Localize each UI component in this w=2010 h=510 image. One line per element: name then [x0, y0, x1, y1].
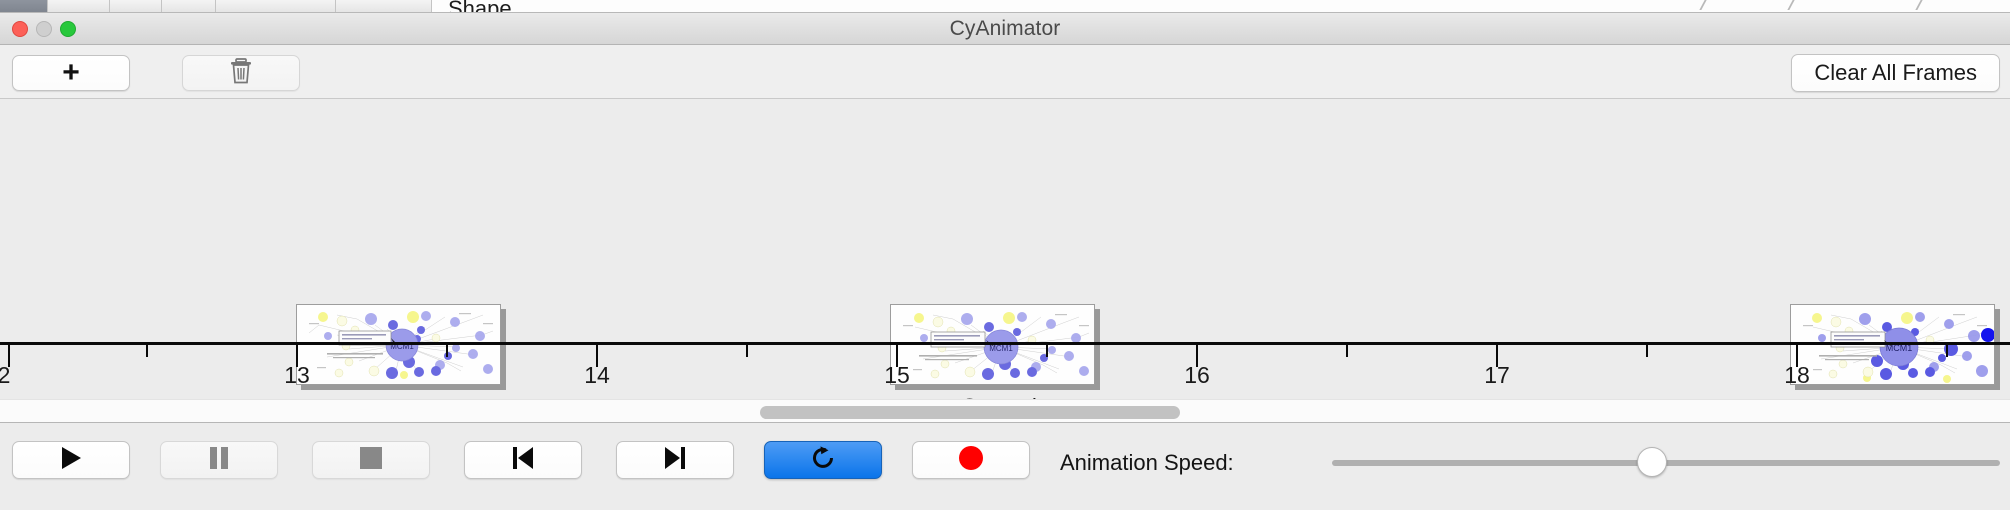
window-title: CyAnimator — [0, 17, 2010, 41]
axis-tick-minor — [146, 345, 148, 357]
axis-tick-minor — [1946, 345, 1948, 357]
stop-button[interactable] — [312, 441, 430, 479]
scrollbar-thumb[interactable] — [760, 406, 1180, 419]
record-button[interactable] — [912, 441, 1030, 479]
axis-tick-minor — [1646, 345, 1648, 357]
playback-bar: Animation Speed: — [0, 423, 2010, 509]
axis-tick-minor — [446, 345, 448, 357]
window-titlebar[interactable]: CyAnimator — [0, 13, 2010, 45]
axis-label: 14 — [584, 362, 610, 389]
plus-icon: + — [62, 58, 80, 88]
loop-icon — [809, 444, 837, 477]
add-frame-button[interactable]: + — [12, 55, 130, 91]
network-graph-icon: MCM1 — [891, 305, 1095, 385]
axis-label: 13 — [284, 362, 310, 389]
skip-to-end-button[interactable] — [616, 441, 734, 479]
slider-thumb[interactable] — [1637, 447, 1667, 477]
frame-thumbnail[interactable]: MCM1 — [890, 304, 1100, 390]
axis-tick-minor — [1046, 345, 1048, 357]
axis-label: 16 — [1184, 362, 1210, 389]
record-icon — [958, 445, 984, 476]
axis-label: 17 — [1484, 362, 1510, 389]
pause-button[interactable] — [160, 441, 278, 479]
toolbar: + Clear All Frames — [0, 45, 2010, 99]
skip-forward-icon — [663, 445, 687, 476]
loop-button[interactable] — [764, 441, 882, 479]
skip-to-start-button[interactable] — [464, 441, 582, 479]
axis-label: 15 — [884, 362, 910, 389]
frame-thumbnail[interactable]: MCM1 — [1790, 304, 2000, 390]
clear-all-frames-button[interactable]: Clear All Frames — [1791, 54, 2000, 92]
frame-thumbnail[interactable]: MCM1 — [296, 304, 506, 390]
axis-tick-minor — [746, 345, 748, 357]
network-graph-icon: MCM1 — [1791, 305, 1995, 385]
axis-tick-minor — [1346, 345, 1348, 357]
pause-icon — [208, 445, 230, 476]
timeline-panel[interactable]: MCM1 — [0, 99, 2010, 399]
timeline-axis — [0, 342, 2010, 345]
play-icon — [59, 445, 83, 476]
timeline-scrollbar[interactable] — [0, 399, 2010, 423]
play-button[interactable] — [12, 441, 130, 479]
skip-backward-icon — [511, 445, 535, 476]
stop-icon — [360, 447, 382, 474]
delete-frame-button[interactable] — [182, 55, 300, 91]
cyanimator-window: CyAnimator + Clear All Frames — [0, 12, 2010, 510]
animation-speed-label: Animation Speed: — [1060, 450, 1234, 476]
trash-icon — [228, 57, 254, 90]
axis-label: 2 — [0, 362, 10, 389]
axis-label: 18 — [1784, 362, 1810, 389]
network-graph-icon: MCM1 — [297, 305, 501, 385]
animation-speed-slider[interactable] — [1332, 459, 2000, 467]
